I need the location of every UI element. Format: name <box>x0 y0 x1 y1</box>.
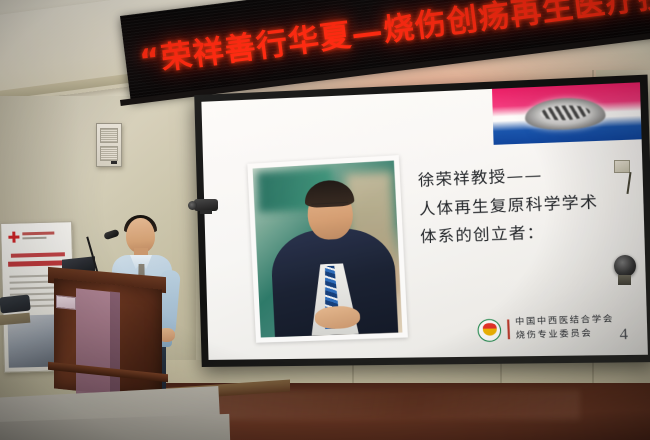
chair <box>0 296 32 344</box>
wall-outlet-plate <box>614 160 630 173</box>
poster-title-line <box>11 252 65 257</box>
red-cross-icon <box>8 231 19 242</box>
footer-divider <box>507 319 509 339</box>
camera-lens-icon <box>188 201 197 210</box>
conference-hall-photo: “荣祥善行华夏—烧伤创疡再生医疗技术基层推广健康行”（广 <box>0 0 650 440</box>
camera-dome-icon <box>614 255 636 277</box>
chair-seat <box>0 313 30 326</box>
chair-back <box>0 294 31 313</box>
projection-screen: 徐荣祥教授—— 人体再生复原科学学术 体系的创立者： 中国中西医结合学会 烧伤专… <box>194 75 650 367</box>
footer-org-text: 中国中西医结合学会 烧伤专业委员会 <box>515 313 615 343</box>
speaker-led-icon <box>111 161 117 164</box>
dome-camera-right <box>612 255 642 285</box>
podium-plaque <box>56 295 76 310</box>
poster-brand-line <box>22 232 54 236</box>
footer-org-line-2: 烧伤专业委员会 <box>516 326 615 342</box>
slide-corner-logo <box>492 82 642 145</box>
camera-mount-arm <box>200 210 212 214</box>
society-emblem-icon <box>477 318 501 341</box>
slide-portrait-photo <box>247 155 408 343</box>
wall-speaker-unit <box>96 123 122 167</box>
diamond-logo-icon <box>525 96 606 131</box>
podium-drape-fold <box>110 291 120 400</box>
video-camera-left <box>188 197 222 214</box>
portrait-glasses <box>311 202 348 213</box>
poster-brand-subline <box>22 237 46 240</box>
speaker-grille <box>100 146 118 161</box>
speaker-grille <box>100 128 118 143</box>
podium-drape <box>76 288 110 402</box>
camera-mount-bracket <box>618 275 631 285</box>
slide-page-number: 4 <box>619 326 628 344</box>
podium <box>48 272 166 400</box>
slide-surface: 徐荣祥教授—— 人体再生复原科学学术 体系的创立者： 中国中西医结合学会 烧伤专… <box>201 82 648 360</box>
portrait-photo-inner <box>253 160 403 337</box>
slide-footer-logo: 中国中西医结合学会 烧伤专业委员会 <box>477 313 615 344</box>
footer-org-line-1: 中国中西医结合学会 <box>515 313 614 329</box>
slide-body-text: 徐荣祥教授—— 人体再生复原科学学术 体系的创立者： <box>417 158 636 253</box>
